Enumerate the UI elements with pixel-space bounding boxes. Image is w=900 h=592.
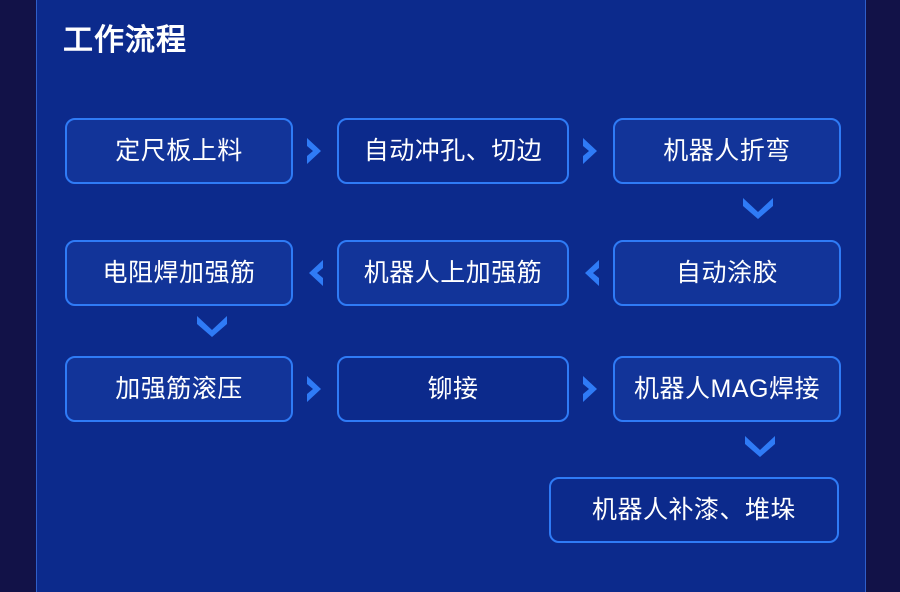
flow-row-2: 电阻焊加强筋 机器人上加强筋 自动涂胶 [37,240,867,306]
chevron-down-icon [739,430,781,460]
flow-node-zidong-tujiao[interactable]: 自动涂胶 [613,240,841,306]
chevron-right-icon [293,118,337,184]
flow-node-dingchiban-shangliao[interactable]: 定尺板上料 [65,118,293,184]
chevron-down-icon [191,310,233,340]
flow-node-jiaqiangjin-gunya[interactable]: 加强筋滚压 [65,356,293,422]
right-rail [866,0,900,592]
chevron-right-icon [293,356,337,422]
flow-node-zidong-chongkong-qiebian[interactable]: 自动冲孔、切边 [337,118,569,184]
chevron-left-icon [293,240,337,306]
flow-node-jiqiren-zhewan[interactable]: 机器人折弯 [613,118,841,184]
chevron-down-icon [737,192,779,222]
flow-node-dianzuhan-jiaqiangjin[interactable]: 电阻焊加强筋 [65,240,293,306]
chevron-left-icon [569,240,613,306]
flow-node-jiqiren-mag-hanjie[interactable]: 机器人MAG焊接 [613,356,841,422]
flowchart-stage: 工作流程 定尺板上料 自动冲孔、切边 机器人折弯 [0,0,900,592]
flow-node-maojie[interactable]: 铆接 [337,356,569,422]
flow-row-3: 加强筋滚压 铆接 机器人MAG焊接 [37,356,867,422]
flow-node-jiqiren-buqi-duiduo[interactable]: 机器人补漆、堆垛 [549,477,839,543]
flow-node-jiqiren-shang-jiaqiangjin[interactable]: 机器人上加强筋 [337,240,569,306]
page-title: 工作流程 [63,22,187,60]
flow-row-1: 定尺板上料 自动冲孔、切边 机器人折弯 [37,118,867,184]
flow-panel: 工作流程 定尺板上料 自动冲孔、切边 机器人折弯 [36,0,866,592]
chevron-right-icon [569,118,613,184]
flow-row-4: 机器人补漆、堆垛 [37,477,867,543]
left-rail [0,0,36,592]
chevron-right-icon [569,356,613,422]
